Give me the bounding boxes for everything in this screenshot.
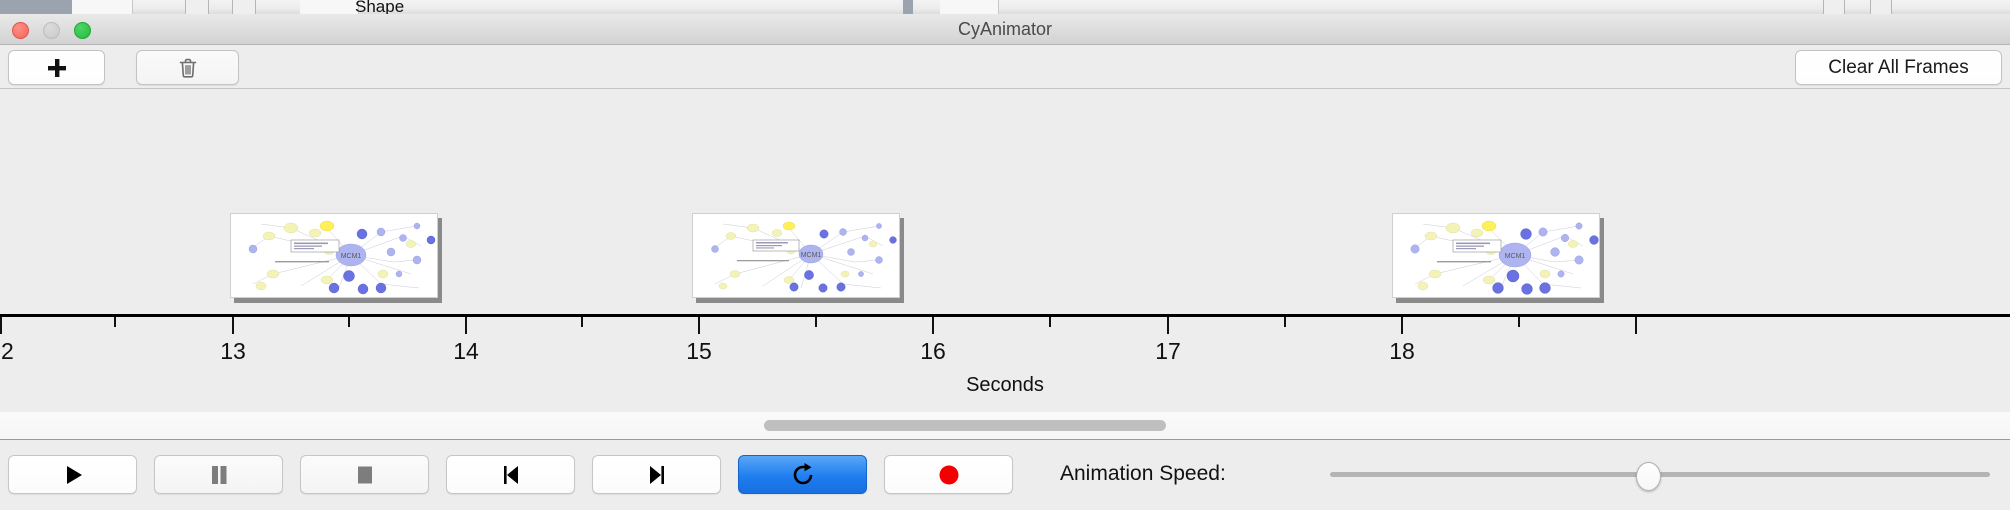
- background-tab: [185, 0, 209, 14]
- axis-tick-major: [0, 317, 2, 334]
- loop-icon: [790, 462, 816, 488]
- timeline-frame-3[interactable]: MCM1: [1392, 213, 1604, 301]
- timeline-frame-2[interactable]: MCM1: [692, 213, 904, 301]
- frame-thumbnail: MCM1: [230, 213, 438, 298]
- timeline-scrollbar[interactable]: [0, 412, 2010, 440]
- axis-tick-minor: [581, 317, 583, 327]
- animation-speed-slider[interactable]: [1330, 455, 1990, 492]
- axis-tick-label: 18: [1389, 338, 1415, 365]
- skip-forward-icon: [645, 463, 669, 487]
- stop-button[interactable]: [300, 455, 429, 494]
- background-tab: [1823, 0, 1845, 14]
- axis-tick-major: [1167, 317, 1169, 334]
- axis-tick-minor: [1049, 317, 1051, 327]
- timeline-axis[interactable]: 12131415161718 Seconds: [0, 314, 2010, 414]
- axis-tick-major: [1635, 317, 1637, 334]
- axis-tick-major: [465, 317, 467, 334]
- axis-tick-label: 12: [0, 338, 14, 365]
- background-window-label: Shape: [355, 0, 404, 14]
- skip-back-icon: [499, 463, 523, 487]
- axis-tick-major: [932, 317, 934, 334]
- background-window-strip: Shape: [0, 0, 2010, 14]
- network-graph-thumbnail: MCM1: [693, 214, 899, 297]
- first-frame-button[interactable]: [446, 455, 575, 494]
- frame-thumbnail: MCM1: [692, 213, 900, 298]
- axis-tick-label: 17: [1155, 338, 1181, 365]
- trash-icon: [178, 57, 198, 79]
- scrollbar-thumb[interactable]: [764, 420, 1166, 431]
- delete-frame-button[interactable]: [136, 50, 239, 85]
- axis-tick-label: 13: [220, 338, 246, 365]
- title-bar[interactable]: CyAnimator: [0, 14, 2010, 45]
- loop-button[interactable]: [738, 455, 867, 494]
- cyanimator-window: Shape CyAnimator: [0, 0, 2010, 510]
- axis-tick-label: 16: [920, 338, 946, 365]
- axis-tick-major: [698, 317, 700, 334]
- axis-tick-minor: [114, 317, 116, 327]
- window-title: CyAnimator: [0, 14, 2010, 44]
- frame-timeline-pane[interactable]: MCM1: [0, 89, 2010, 315]
- toolbar: Clear All Frames: [0, 45, 2010, 89]
- axis-tick-minor: [348, 317, 350, 327]
- axis-tick-label: 15: [686, 338, 712, 365]
- axis-tick-major: [232, 317, 234, 334]
- record-button[interactable]: [884, 455, 1013, 494]
- play-button[interactable]: [8, 455, 137, 494]
- timeline-frame-1[interactable]: MCM1: [230, 213, 442, 301]
- axis-tick-minor: [1284, 317, 1286, 327]
- svg-text:MCM1: MCM1: [801, 252, 822, 259]
- frame-thumbnail: MCM1: [1392, 213, 1600, 298]
- pause-icon: [207, 463, 231, 487]
- axis-title: Seconds: [0, 374, 2010, 397]
- background-tab: [232, 0, 256, 14]
- background-segment: [72, 0, 133, 14]
- animation-speed-label: Animation Speed:: [1060, 455, 1226, 492]
- stop-icon: [353, 463, 377, 487]
- network-graph-thumbnail: MCM1: [231, 214, 437, 297]
- background-dark-block: [903, 0, 913, 14]
- add-frame-button[interactable]: [8, 50, 105, 85]
- axis-tick-minor: [1518, 317, 1520, 327]
- record-icon: [937, 463, 961, 487]
- play-icon: [61, 463, 85, 487]
- axis-tick-label: 14: [453, 338, 479, 365]
- background-dark-block: [0, 0, 72, 14]
- background-segment: [300, 0, 359, 14]
- slider-thumb[interactable]: [1636, 462, 1661, 491]
- background-segment: [940, 0, 999, 14]
- clear-all-frames-label: Clear All Frames: [1828, 57, 1968, 79]
- clear-all-frames-button[interactable]: Clear All Frames: [1795, 50, 2002, 85]
- transport-bar: Animation Speed:: [0, 440, 2010, 510]
- axis-tick-minor: [815, 317, 817, 327]
- network-graph-thumbnail: MCM1: [1393, 214, 1599, 297]
- svg-text:MCM1: MCM1: [1505, 253, 1526, 260]
- axis-line: [0, 314, 2010, 317]
- pause-button[interactable]: [154, 455, 283, 494]
- last-frame-button[interactable]: [592, 455, 721, 494]
- plus-icon: [46, 57, 68, 79]
- axis-tick-major: [1401, 317, 1403, 334]
- svg-text:MCM1: MCM1: [341, 253, 362, 260]
- background-tab: [1870, 0, 1892, 14]
